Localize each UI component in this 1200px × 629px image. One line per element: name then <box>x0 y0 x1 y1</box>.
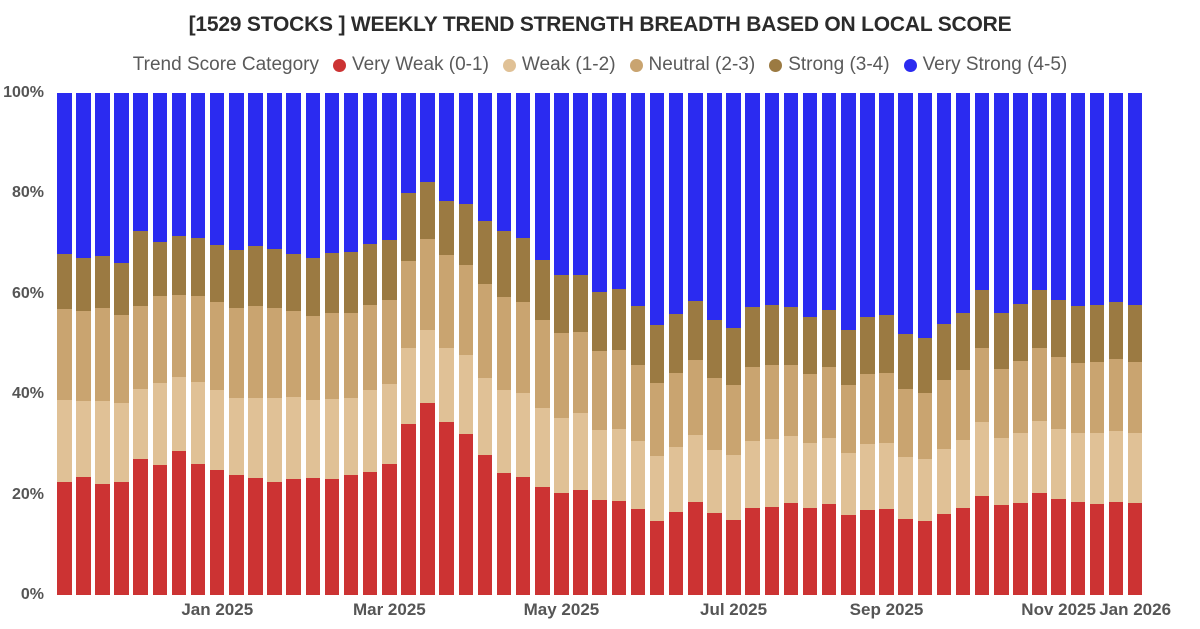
bar-segment-very_weak <box>897 519 914 595</box>
bar-segment-neutral <box>75 311 92 400</box>
bar-segment-neutral <box>1012 361 1029 433</box>
bar-segment-very_weak <box>611 501 628 595</box>
bar-segment-weak <box>744 441 761 508</box>
bar-segment-neutral <box>171 295 188 376</box>
bar-segment-strong <box>917 338 934 393</box>
bar-segment-strong <box>955 313 972 370</box>
bar-segment-neutral <box>362 305 379 389</box>
bar-segment-neutral <box>496 297 513 390</box>
bar-segment-very_strong <box>1031 93 1048 290</box>
bar-column[interactable] <box>400 93 417 595</box>
bar-segment-neutral <box>955 370 972 440</box>
bar-segment-very_weak <box>821 504 838 595</box>
bar-segment-very_strong <box>802 93 819 317</box>
bar-segment-very_weak <box>438 422 455 595</box>
bar-segment-neutral <box>993 369 1010 438</box>
bar-segment-strong <box>936 324 953 380</box>
bar-column[interactable] <box>611 93 628 595</box>
x-axis-tick-label: Sep 2025 <box>850 600 924 620</box>
bar-segment-weak <box>572 413 589 490</box>
bar-column[interactable] <box>649 93 666 595</box>
plot-wrapper: 0%20%40%60%80%100% Jan 2025Mar 2025May 2… <box>0 0 1200 629</box>
bar-segment-very_weak <box>400 424 417 595</box>
bar-segment-strong <box>171 236 188 295</box>
bar-segment-very_weak <box>572 490 589 595</box>
x-axis-tick-label: Jul 2025 <box>700 600 767 620</box>
bar-segment-very_strong <box>56 93 73 254</box>
bar-segment-very_strong <box>1089 93 1106 305</box>
bar-segment-very_weak <box>591 500 608 595</box>
bar-segment-weak <box>859 444 876 509</box>
bar-segment-very_weak <box>744 508 761 595</box>
bar-segment-strong <box>438 201 455 255</box>
bar-segment-weak <box>936 449 953 513</box>
bar-segment-weak <box>974 422 991 496</box>
bar-column[interactable] <box>515 93 532 595</box>
bar-column[interactable] <box>840 93 857 595</box>
bar-segment-very_strong <box>993 93 1010 313</box>
bar-segment-weak <box>1127 433 1144 503</box>
bar-segment-strong <box>343 252 360 313</box>
bar-segment-weak <box>917 459 934 520</box>
bar-segment-very_strong <box>668 93 685 314</box>
bar-segment-weak <box>190 382 207 465</box>
bar-segment-weak <box>630 441 647 509</box>
bar-column[interactable] <box>362 93 379 595</box>
bar-column[interactable] <box>496 93 513 595</box>
bar-segment-weak <box>1031 421 1048 493</box>
bar-segment-strong <box>821 310 838 367</box>
bar-segment-weak <box>783 436 800 502</box>
bar-segment-neutral <box>706 378 723 450</box>
bar-column[interactable] <box>209 93 226 595</box>
bar-segment-very_weak <box>553 493 570 595</box>
bar-segment-strong <box>878 315 895 372</box>
bar-column[interactable] <box>190 93 207 595</box>
bar-segment-neutral <box>477 284 494 378</box>
chart-root: [1529 STOCKS ] WEEKLY TREND STRENGTH BRE… <box>0 0 1200 629</box>
bar-segment-weak <box>955 440 972 508</box>
bar-segment-very_weak <box>955 508 972 595</box>
x-axis-tick-label: Jan 2025 <box>181 600 253 620</box>
bar-segment-very_weak <box>190 464 207 595</box>
bar-segment-very_weak <box>496 473 513 595</box>
bar-segment-weak <box>821 438 838 504</box>
bar-segment-weak <box>305 400 322 478</box>
bar-segment-very_weak <box>324 479 341 595</box>
bar-segment-weak <box>247 398 264 478</box>
bar-column[interactable] <box>266 93 283 595</box>
y-axis-tick-label: 60% <box>12 285 44 303</box>
bar-column[interactable] <box>381 93 398 595</box>
bar-segment-weak <box>706 450 723 513</box>
bar-segment-strong <box>515 238 532 302</box>
bar-segment-weak <box>381 384 398 464</box>
bar-segment-weak <box>1108 431 1125 502</box>
bar-segment-strong <box>1031 290 1048 348</box>
bar-segment-weak <box>1070 433 1087 502</box>
bar-segment-very_weak <box>802 508 819 595</box>
bar-segment-strong <box>496 231 513 297</box>
bar-segment-very_strong <box>75 93 92 258</box>
bar-column[interactable] <box>56 93 73 595</box>
bar-segment-very_weak <box>974 496 991 595</box>
bar-segment-neutral <box>802 374 819 444</box>
bar-column[interactable] <box>458 93 475 595</box>
bar-segment-weak <box>94 401 111 483</box>
bar-segment-very_strong <box>171 93 188 236</box>
bar-segment-neutral <box>343 313 360 398</box>
bar-segment-very_strong <box>343 93 360 252</box>
bar-column[interactable] <box>783 93 800 595</box>
bar-segment-neutral <box>1127 362 1144 433</box>
bar-column[interactable] <box>744 93 761 595</box>
bar-segment-very_weak <box>668 512 685 595</box>
bar-segment-very_weak <box>1050 499 1067 595</box>
y-axis-tick-label: 100% <box>3 84 44 102</box>
bar-segment-neutral <box>572 332 589 413</box>
bar-segment-weak <box>132 389 149 460</box>
bar-segment-strong <box>1012 304 1029 361</box>
bar-segment-weak <box>56 400 73 482</box>
bar-segment-very_strong <box>955 93 972 313</box>
bar-segment-very_weak <box>171 451 188 595</box>
bar-segment-strong <box>744 307 761 367</box>
bar-segment-strong <box>783 307 800 365</box>
bar-column[interactable] <box>706 93 723 595</box>
bar-segment-strong <box>228 250 245 309</box>
bar-segment-neutral <box>725 385 742 455</box>
bar-column[interactable] <box>438 93 455 595</box>
bar-segment-strong <box>152 242 169 296</box>
bar-segment-very_weak <box>152 465 169 595</box>
bar-segment-neutral <box>1031 348 1048 421</box>
bar-segment-weak <box>878 443 895 509</box>
bar-segment-strong <box>840 330 857 385</box>
y-axis-tick-label: 40% <box>12 385 44 403</box>
bar-segment-very_strong <box>324 93 341 253</box>
bar-segment-very_strong <box>553 93 570 275</box>
bar-segment-strong <box>1089 305 1106 362</box>
bar-segment-neutral <box>228 308 245 397</box>
bar-segment-weak <box>515 393 532 477</box>
bar-segment-strong <box>1070 306 1087 362</box>
bar-segment-weak <box>687 435 704 502</box>
bar-segment-strong <box>324 253 341 313</box>
bar-column[interactable] <box>802 93 819 595</box>
bar-segment-very_weak <box>1070 502 1087 595</box>
bar-column[interactable] <box>1089 93 1106 595</box>
bar-segment-neutral <box>190 296 207 382</box>
bar-segment-weak <box>343 398 360 474</box>
bar-segment-very_weak <box>209 470 226 596</box>
bar-column[interactable] <box>1070 93 1087 595</box>
bar-segment-weak <box>725 455 742 519</box>
bar-column[interactable] <box>859 93 876 595</box>
bar-segment-neutral <box>1070 363 1087 434</box>
bar-segment-neutral <box>840 385 857 453</box>
bar-segment-very_strong <box>725 93 742 328</box>
bar-segment-strong <box>94 256 111 308</box>
bar-segment-strong <box>477 221 494 284</box>
y-axis-tick-label: 80% <box>12 184 44 202</box>
bar-segment-weak <box>496 390 513 473</box>
bar-segment-strong <box>630 306 647 365</box>
bar-segment-neutral <box>611 350 628 430</box>
bar-segment-strong <box>419 182 436 239</box>
bar-segment-weak <box>438 348 455 422</box>
bar-segment-very_strong <box>228 93 245 250</box>
bar-column[interactable] <box>993 93 1010 595</box>
bar-segment-strong <box>591 292 608 351</box>
bar-segment-weak <box>649 456 666 520</box>
bar-segment-neutral <box>591 351 608 430</box>
bar-segment-very_strong <box>572 93 589 275</box>
bar-column[interactable] <box>285 93 302 595</box>
bar-segment-very_strong <box>113 93 130 263</box>
bar-segment-very_weak <box>285 479 302 595</box>
bar-segment-strong <box>400 193 417 260</box>
bar-segment-very_strong <box>1127 93 1144 305</box>
bar-segment-neutral <box>132 306 149 388</box>
x-axis: Jan 2025Mar 2025May 2025Jul 2025Sep 2025… <box>56 600 1146 628</box>
bar-column[interactable] <box>687 93 704 595</box>
bar-segment-neutral <box>1108 359 1125 431</box>
bar-segment-weak <box>1012 433 1029 503</box>
bar-column[interactable] <box>572 93 589 595</box>
bar-column[interactable] <box>917 93 934 595</box>
bar-segment-strong <box>132 231 149 306</box>
bar-segment-neutral <box>1089 362 1106 433</box>
bar-column[interactable] <box>974 93 991 595</box>
bar-column[interactable] <box>171 93 188 595</box>
bar-segment-strong <box>381 240 398 301</box>
bar-segment-weak <box>324 399 341 479</box>
bar-column[interactable] <box>936 93 953 595</box>
x-axis-tick-label: Mar 2025 <box>353 600 426 620</box>
bar-column[interactable] <box>324 93 341 595</box>
bar-segment-neutral <box>553 333 570 418</box>
bar-segment-very_strong <box>190 93 207 238</box>
bar-segment-very_strong <box>611 93 628 289</box>
bar-segment-strong <box>725 328 742 385</box>
bar-segment-weak <box>534 408 551 487</box>
bar-segment-very_strong <box>419 93 436 182</box>
bar-segment-very_weak <box>630 509 647 595</box>
bar-segment-strong <box>687 301 704 360</box>
bar-segment-neutral <box>324 313 341 399</box>
bar-segment-weak <box>553 418 570 493</box>
bar-segment-very_strong <box>305 93 322 258</box>
bar-column[interactable] <box>477 93 494 595</box>
bar-segment-very_strong <box>515 93 532 238</box>
bar-segment-weak <box>75 401 92 477</box>
bar-segment-strong <box>897 334 914 389</box>
bar-column[interactable] <box>305 93 322 595</box>
bar-segment-very_strong <box>917 93 934 338</box>
bar-segment-weak <box>668 447 685 512</box>
bar-segment-strong <box>285 254 302 312</box>
bar-column[interactable] <box>630 93 647 595</box>
bar-segment-neutral <box>305 316 322 399</box>
bar-segment-neutral <box>113 315 130 403</box>
bar-segment-neutral <box>878 373 895 443</box>
bar-column[interactable] <box>1108 93 1125 595</box>
bar-segment-very_weak <box>515 477 532 595</box>
bar-column[interactable] <box>132 93 149 595</box>
bar-segment-strong <box>706 320 723 378</box>
bar-segment-very_strong <box>496 93 513 231</box>
bar-column[interactable] <box>553 93 570 595</box>
bar-segment-very_weak <box>343 475 360 595</box>
bar-segment-very_weak <box>1012 503 1029 595</box>
bar-segment-weak <box>209 390 226 469</box>
bar-segment-neutral <box>94 308 111 401</box>
bar-column[interactable] <box>591 93 608 595</box>
bar-column[interactable] <box>75 93 92 595</box>
bar-column[interactable] <box>94 93 111 595</box>
bar-segment-neutral <box>783 365 800 436</box>
bar-column[interactable] <box>343 93 360 595</box>
bar-segment-very_weak <box>878 509 895 595</box>
bar-column[interactable] <box>1127 93 1144 595</box>
bar-column[interactable] <box>419 93 436 595</box>
bar-segment-neutral <box>534 320 551 407</box>
bar-segment-very_strong <box>687 93 704 301</box>
bar-segment-neutral <box>56 309 73 400</box>
bar-segment-weak <box>113 403 130 482</box>
bar-segment-very_strong <box>1050 93 1067 300</box>
bar-segment-weak <box>611 429 628 500</box>
bar-column[interactable] <box>725 93 742 595</box>
bar-segment-very_strong <box>1108 93 1125 302</box>
bar-segment-very_weak <box>477 455 494 595</box>
bar-segment-very_weak <box>764 507 781 595</box>
bar-column[interactable] <box>534 93 551 595</box>
bar-segment-strong <box>649 325 666 383</box>
bar-segment-very_weak <box>840 515 857 595</box>
bar-segment-weak <box>419 330 436 402</box>
bar-segment-very_strong <box>152 93 169 242</box>
bar-segment-very_strong <box>821 93 838 310</box>
bar-segment-weak <box>458 355 475 434</box>
bar-segment-weak <box>152 383 169 465</box>
bar-segment-very_weak <box>1089 504 1106 595</box>
bar-segment-weak <box>1089 433 1106 503</box>
bar-column[interactable] <box>1031 93 1048 595</box>
bar-segment-weak <box>285 397 302 478</box>
bar-segment-strong <box>1050 300 1067 357</box>
bar-column[interactable] <box>668 93 685 595</box>
bar-column[interactable] <box>821 93 838 595</box>
bar-segment-neutral <box>209 302 226 390</box>
bar-column[interactable] <box>1050 93 1067 595</box>
bar-segment-weak <box>802 443 819 508</box>
bar-segment-neutral <box>687 360 704 435</box>
bar-segment-strong <box>802 317 819 373</box>
bar-segment-very_strong <box>362 93 379 244</box>
x-axis-tick-label: Nov 2025 <box>1021 600 1096 620</box>
bar-segment-neutral <box>400 261 417 348</box>
bar-segment-strong <box>209 245 226 302</box>
bar-segment-very_weak <box>1108 502 1125 595</box>
bar-segment-weak <box>764 439 781 507</box>
bar-segment-strong <box>553 275 570 333</box>
bar-segment-strong <box>764 305 781 365</box>
bar-segment-very_strong <box>1070 93 1087 306</box>
bar-segment-very_strong <box>649 93 666 325</box>
bar-segment-very_strong <box>974 93 991 290</box>
bar-segment-strong <box>1127 305 1144 361</box>
bar-segment-very_strong <box>630 93 647 306</box>
bar-segment-neutral <box>649 383 666 456</box>
bar-segment-very_strong <box>1012 93 1029 304</box>
bar-segment-very_weak <box>725 520 742 595</box>
bar-segment-neutral <box>974 348 991 423</box>
bar-segment-weak <box>993 438 1010 505</box>
bar-column[interactable] <box>897 93 914 595</box>
bar-column[interactable] <box>878 93 895 595</box>
bar-segment-very_weak <box>783 503 800 595</box>
bar-segment-weak <box>362 390 379 472</box>
bar-segment-very_weak <box>381 464 398 595</box>
bar-column[interactable] <box>764 93 781 595</box>
bar-segment-very_strong <box>706 93 723 320</box>
bar-segment-very_strong <box>266 93 283 249</box>
bar-segment-neutral <box>744 367 761 441</box>
bar-segment-very_strong <box>878 93 895 315</box>
bar-segment-strong <box>247 246 264 306</box>
bar-segment-very_strong <box>783 93 800 307</box>
bar-segment-very_weak <box>228 475 245 595</box>
bar-segment-very_strong <box>744 93 761 307</box>
bar-segment-neutral <box>515 302 532 392</box>
x-axis-tick-label: Jan 2026 <box>1099 600 1171 620</box>
bar-segment-weak <box>1050 429 1067 499</box>
bar-column[interactable] <box>228 93 245 595</box>
bar-column[interactable] <box>955 93 972 595</box>
bar-segment-very_weak <box>113 482 130 595</box>
bar-column[interactable] <box>247 93 264 595</box>
bar-segment-very_strong <box>438 93 455 201</box>
bar-segment-very_weak <box>247 478 264 595</box>
bar-segment-very_weak <box>75 477 92 595</box>
bar-segment-very_weak <box>362 472 379 595</box>
bar-segment-neutral <box>285 311 302 397</box>
bar-segment-very_weak <box>56 482 73 595</box>
y-axis: 0%20%40%60%80%100% <box>0 0 52 629</box>
bar-segment-strong <box>1108 302 1125 359</box>
bar-segment-very_strong <box>132 93 149 231</box>
bar-segment-strong <box>668 314 685 373</box>
bar-segment-very_strong <box>209 93 226 245</box>
bar-column[interactable] <box>152 93 169 595</box>
bar-segment-strong <box>458 204 475 265</box>
bar-segment-weak <box>171 377 188 452</box>
bar-segment-neutral <box>859 374 876 445</box>
bar-column[interactable] <box>1012 93 1029 595</box>
bar-segment-strong <box>113 263 130 315</box>
bar-segment-neutral <box>764 365 781 439</box>
plot-area <box>56 93 1146 595</box>
bar-segment-strong <box>75 258 92 311</box>
bar-column[interactable] <box>113 93 130 595</box>
bar-segment-very_weak <box>649 521 666 595</box>
bar-segment-very_weak <box>458 434 475 595</box>
bar-segment-neutral <box>458 265 475 355</box>
bar-segment-strong <box>305 258 322 316</box>
bar-segment-very_weak <box>936 514 953 595</box>
